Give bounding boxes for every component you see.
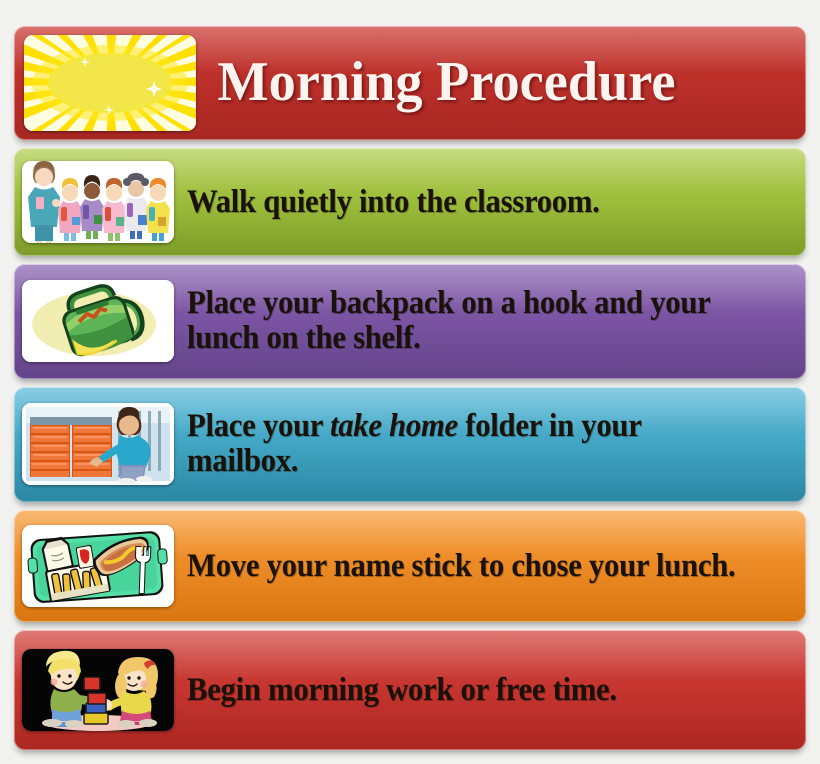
sun-icon	[24, 35, 196, 131]
step-3-text-part1: Place your	[187, 408, 330, 444]
children-playing-blocks-icon	[22, 649, 174, 731]
step-row-2: Place your backpack on a hook and your l…	[14, 264, 806, 379]
step-5-text: Begin morning work or free time.	[174, 673, 752, 708]
backpack-icon	[22, 280, 174, 362]
title-bar: Morning Procedure	[14, 26, 806, 140]
step-2-thumbnail	[22, 280, 174, 362]
step-1-thumbnail	[22, 161, 174, 243]
step-1-text: Walk quietly into the classroom.	[174, 185, 752, 220]
step-3-text-emphasis: take home	[330, 408, 458, 444]
lunch-tray-icon	[22, 525, 174, 607]
step-5-thumbnail	[22, 649, 174, 731]
morning-procedure-poster: Morning Procedure	[0, 0, 820, 764]
step-row-3: Place your take home folder in your mail…	[14, 387, 806, 502]
teacher-and-students-icon	[22, 161, 174, 243]
step-4-thumbnail	[22, 525, 174, 607]
step-row-5: Begin morning work or free time.	[14, 630, 806, 750]
step-row-4: Move your name stick to chose your lunch…	[14, 510, 806, 623]
mailbox-cubbies-icon	[22, 403, 174, 485]
page-title: Morning Procedure	[196, 53, 681, 112]
step-row-1: Walk quietly into the classroom.	[14, 148, 806, 256]
step-4-text: Move your name stick to chose your lunch…	[174, 549, 752, 584]
sun-thumbnail	[24, 35, 196, 131]
step-3-thumbnail	[22, 403, 174, 485]
step-3-text: Place your take home folder in your mail…	[174, 409, 752, 479]
step-2-text: Place your backpack on a hook and your l…	[174, 286, 752, 356]
